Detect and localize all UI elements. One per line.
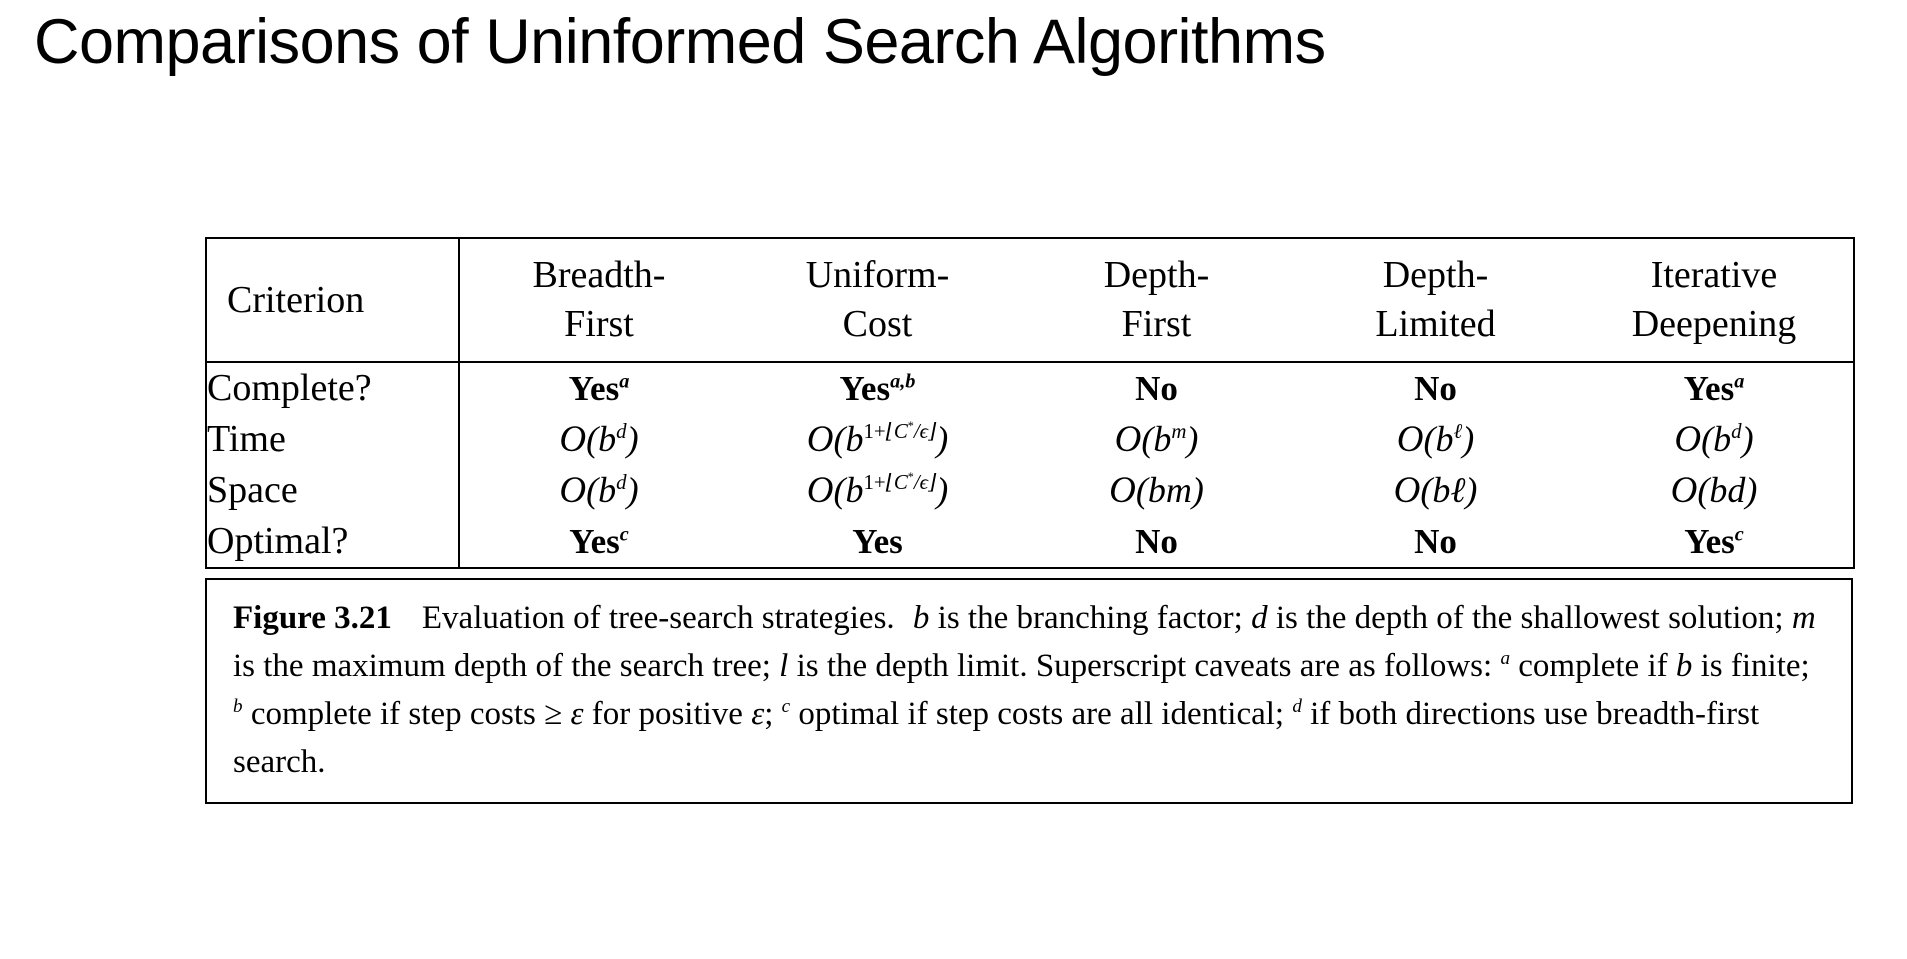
cell-complete-breadth-first: Yesa: [460, 363, 738, 414]
caption-symbol-d: d: [1251, 600, 1268, 636]
cell-space-iterative-deepening: O(bd): [1575, 465, 1853, 516]
caption-sup-c: c: [782, 696, 791, 717]
cell-text: No: [1414, 522, 1457, 561]
caption-sup-b: b: [233, 696, 243, 717]
caption-symbol-geq: ≥: [544, 696, 562, 732]
caption-caveat-c: optimal if step costs are all identical;: [798, 696, 1284, 732]
header-line-2: Limited: [1296, 300, 1575, 349]
cell-space-breadth-first: O(bd): [460, 465, 738, 516]
cell-optimal-depth-first: No: [1017, 516, 1296, 567]
header-line-2: Cost: [738, 300, 1017, 349]
cell-complete-uniform-cost: Yesa,b: [738, 363, 1017, 414]
row-label-optimal: Optimal?: [207, 516, 458, 567]
cell-space-depth-limited: O(bℓ): [1296, 465, 1575, 516]
cell-superscript: a: [1734, 370, 1744, 392]
cell-complete-iterative-deepening: Yesa: [1575, 363, 1853, 414]
header-line-2: First: [1017, 300, 1296, 349]
cell-time-iterative-deepening: O(bd): [1575, 414, 1853, 465]
cell-text: No: [1135, 522, 1178, 561]
cell-superscript: a,b: [890, 370, 915, 392]
cell-time-uniform-cost: O(b1+⌊C*/ϵ⌋): [738, 414, 1017, 465]
cell-time-breadth-first: O(bd): [460, 414, 738, 465]
column-header-criterion: Criterion: [206, 238, 459, 362]
row-label-time: Time: [207, 414, 458, 465]
cell-column-depth-limited: No O(bℓ) O(bℓ) No: [1296, 362, 1575, 568]
table-body-row: Complete? Time Space Optimal? Yesa O(bd)…: [206, 362, 1854, 568]
header-line-1: Breadth-: [460, 251, 738, 300]
caption-symbol-b-2: b: [1676, 648, 1693, 684]
caption-def-d: is the depth of the shallowest solution;: [1276, 600, 1784, 636]
cell-space-uniform-cost: O(b1+⌊C*/ϵ⌋): [738, 465, 1017, 516]
cell-column-iterative-deepening: Yesa O(bd) O(bd) Yesc: [1575, 362, 1854, 568]
caption-caveat-b-tail: for positive: [592, 696, 743, 732]
cell-text: Yes: [1684, 522, 1735, 561]
page-title: Comparisons of Uninformed Search Algorit…: [34, 6, 1326, 78]
column-header-iterative-deepening: Iterative Deepening: [1575, 238, 1854, 362]
cell-text: Yes: [569, 522, 620, 561]
cell-optimal-iterative-deepening: Yesc: [1575, 516, 1853, 567]
cell-optimal-uniform-cost: Yes: [738, 516, 1017, 567]
cell-column-breadth-first: Yesa O(bd) O(bd) Yesc: [459, 362, 738, 568]
caption-sup-d: d: [1292, 696, 1302, 717]
header-line-1: Iterative: [1575, 251, 1853, 300]
header-line-2: First: [460, 300, 738, 349]
column-header-depth-limited: Depth- Limited: [1296, 238, 1575, 362]
figure-number: Figure 3.21: [233, 600, 392, 636]
cell-text: Yes: [852, 522, 903, 561]
figure-caption-text: Figure 3.21Evaluation of tree-search str…: [233, 594, 1825, 786]
caption-symbol-l: l: [779, 648, 788, 684]
caption-semicolon: ;: [764, 696, 773, 732]
cell-text: Yes: [569, 369, 620, 408]
table-header-row: Criterion Breadth- First Uniform- Cost D…: [206, 238, 1854, 362]
header-line-2: Deepening: [1575, 300, 1853, 349]
row-label-space: Space: [207, 465, 458, 516]
cell-text: No: [1135, 369, 1178, 408]
column-header-depth-first: Depth- First: [1017, 238, 1296, 362]
cell-time-depth-limited: O(bℓ): [1296, 414, 1575, 465]
header-line-1: Depth-: [1017, 251, 1296, 300]
caption-sentence-1: Evaluation of tree-search strategies.: [422, 600, 895, 636]
caption-symbol-epsilon: ε: [570, 696, 583, 732]
cell-optimal-depth-limited: No: [1296, 516, 1575, 567]
column-header-uniform-cost: Uniform- Cost: [738, 238, 1017, 362]
caption-caveat-a: complete if: [1518, 648, 1667, 684]
caption-def-l: is the depth limit.: [797, 648, 1028, 684]
figure-3-21: Criterion Breadth- First Uniform- Cost D…: [205, 237, 1853, 804]
cell-column-depth-first: No O(bm) O(bm) No: [1017, 362, 1296, 568]
column-header-criterion-label: Criterion: [227, 276, 458, 325]
caption-sup-a: a: [1500, 648, 1510, 669]
cell-superscript: c: [620, 523, 629, 545]
cell-text: Yes: [840, 369, 891, 408]
column-header-breadth-first: Breadth- First: [459, 238, 738, 362]
caption-symbol-b: b: [913, 600, 930, 636]
cell-superscript: c: [1735, 523, 1744, 545]
figure-caption-box: Figure 3.21Evaluation of tree-search str…: [205, 578, 1853, 804]
header-line-1: Depth-: [1296, 251, 1575, 300]
caption-caveat-a-tail: is finite;: [1701, 648, 1810, 684]
uninformed-search-comparison-table: Criterion Breadth- First Uniform- Cost D…: [205, 237, 1855, 569]
cell-time-depth-first: O(bm): [1017, 414, 1296, 465]
caption-symbol-m: m: [1792, 600, 1816, 636]
cell-optimal-breadth-first: Yesc: [460, 516, 738, 567]
caption-caveats-intro: Superscript caveats are as follows:: [1036, 648, 1492, 684]
cell-text: No: [1414, 369, 1457, 408]
row-label-complete: Complete?: [207, 363, 458, 414]
cell-text: Yes: [1684, 369, 1735, 408]
caption-caveat-b: complete if step costs: [251, 696, 536, 732]
header-line-1: Uniform-: [738, 251, 1017, 300]
caption-def-m: is the maximum depth of the search tree;: [233, 648, 771, 684]
cell-superscript: a: [619, 370, 629, 392]
caption-symbol-epsilon-2: ε: [751, 696, 764, 732]
cell-complete-depth-limited: No: [1296, 363, 1575, 414]
cell-column-uniform-cost: Yesa,b O(b1+⌊C*/ϵ⌋) O(b1+⌊C*/ϵ⌋) Yes: [738, 362, 1017, 568]
cell-space-depth-first: O(bm): [1017, 465, 1296, 516]
caption-def-b: is the branching factor;: [938, 600, 1243, 636]
row-label-cell: Complete? Time Space Optimal?: [206, 362, 459, 568]
cell-complete-depth-first: No: [1017, 363, 1296, 414]
